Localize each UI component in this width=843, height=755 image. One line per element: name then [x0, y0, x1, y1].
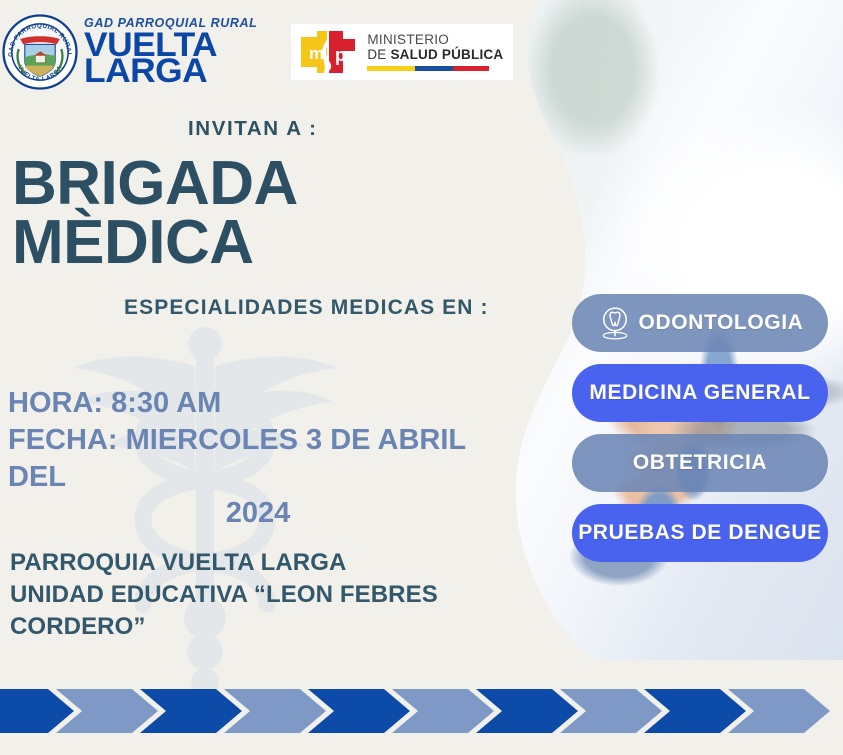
gad-name-line-2: LARGA	[84, 57, 264, 86]
service-pill-odontologia[interactable]: ODONTOLOGIA	[572, 294, 828, 352]
logo-row: GAD PARROQUIAL RURAL VUELTA LARGA GAD PA…	[0, 14, 513, 90]
msp-line-2: DE SALUD PÚBLICA	[367, 48, 503, 63]
subtitle-label: ESPECIALIDADES MEDICAS EN :	[124, 296, 489, 320]
event-time: HORA: 8:30 AM	[8, 385, 508, 422]
gad-parroquial-logo: GAD PARROQUIAL RURAL VUELTA LARGA GAD PA…	[0, 14, 257, 90]
service-pill-medicina-general[interactable]: MEDICINA GENERAL	[572, 364, 828, 422]
page-title: BRIGADA MÈDICA	[12, 155, 482, 271]
gad-seal-icon: GAD PARROQUIAL RURAL VUELTA LARGA	[2, 14, 78, 90]
tooth-location-pin-icon	[597, 305, 633, 341]
svg-text:m: m	[309, 44, 324, 63]
venue-block: PARROQUIA VUELTA LARGA UNIDAD EDUCATIVA …	[10, 547, 570, 643]
event-date: FECHA: MIERCOLES 3 DE ABRIL DEL	[8, 422, 508, 496]
msp-mark-icon: m p	[299, 29, 357, 75]
ministerio-salud-publica-logo: m p MINISTERIO DE SALUD PÚBLICA	[291, 24, 513, 80]
service-label: OBTETRICIA	[633, 451, 767, 475]
msp-wordmark: MINISTERIO DE SALUD PÚBLICA	[367, 33, 503, 70]
svg-text:p: p	[335, 45, 346, 65]
invitation-label: INVITAN A :	[188, 117, 318, 141]
event-year: 2024	[8, 495, 508, 532]
chevron-arrow	[0, 689, 74, 733]
title-line-1: BRIGADA	[12, 155, 482, 212]
ecuador-flag-stripe-icon	[367, 66, 489, 71]
poster-canvas: GAD PARROQUIAL RURAL VUELTA LARGA GAD PA…	[0, 0, 843, 755]
msp-line-1: MINISTERIO	[367, 33, 503, 48]
service-pill-pruebas-de-dengue[interactable]: PRUEBAS DE DENGUE	[572, 504, 828, 562]
venue-line-1: PARROQUIA VUELTA LARGA	[10, 547, 570, 579]
service-label: MEDICINA GENERAL	[589, 381, 810, 405]
venue-line-2: UNIDAD EDUCATIVA “LEON FEBRES CORDERO”	[10, 579, 570, 643]
event-datetime-block: HORA: 8:30 AM FECHA: MIERCOLES 3 DE ABRI…	[8, 385, 508, 532]
services-list: ODONTOLOGIA MEDICINA GENERAL OBTETRICIA …	[572, 294, 828, 574]
title-line-2: MÈDICA	[12, 214, 482, 271]
service-label: PRUEBAS DE DENGUE	[578, 521, 822, 545]
chevron-divider-band	[0, 685, 843, 737]
service-pill-obtetricia[interactable]: OBTETRICIA	[572, 434, 828, 492]
gad-wordmark: GAD PARROQUIAL RURAL VUELTA LARGA	[84, 18, 257, 86]
service-label: ODONTOLOGIA	[639, 311, 804, 335]
